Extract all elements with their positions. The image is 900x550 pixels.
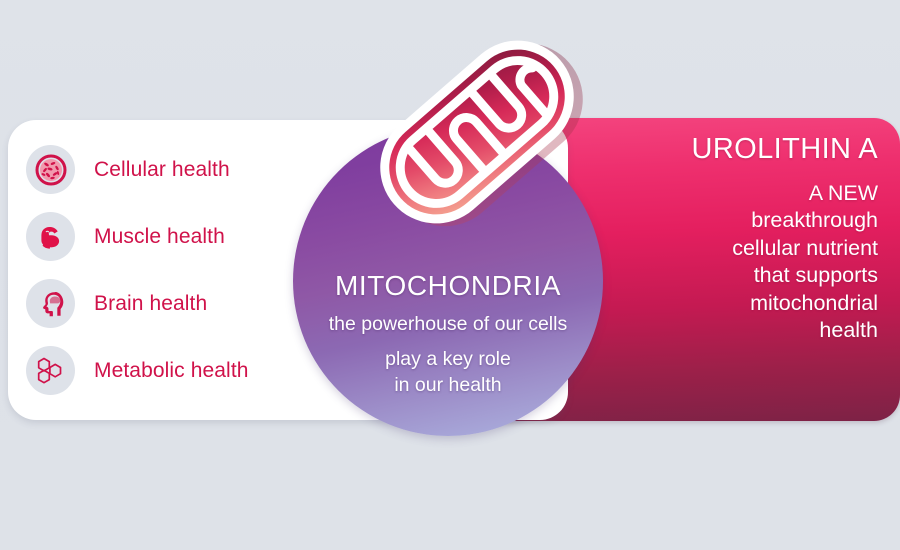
mitochondria-title: MITOCHONDRIA [293,272,603,300]
urolithin-a-line-1: A NEW [628,180,878,208]
list-item-label: Cellular health [94,158,230,182]
cell-icon [26,145,75,194]
urolithin-a-description: A NEW breakthrough cellular nutrient tha… [628,180,878,345]
mitochondria-circle: MITOCHONDRIA the powerhouse of our cells… [293,126,603,436]
mitochondria-description: the powerhouse of our cells play a key r… [293,312,603,399]
bicep-icon [26,212,75,261]
infographic-stage: UROLITHIN A A NEW breakthrough cellular … [0,0,900,550]
mitochondria-line-2: play a key role [293,347,603,373]
list-item-label: Metabolic health [94,359,249,383]
urolithin-a-line-6: health [628,317,878,345]
urolithin-a-content: UROLITHIN A A NEW breakthrough cellular … [628,134,878,345]
head-brain-icon [26,279,75,328]
list-item-label: Brain health [94,292,207,316]
list-item-label: Muscle health [94,225,225,249]
urolithin-a-title: UROLITHIN A [628,134,878,166]
mitochondria-line-1: the powerhouse of our cells [293,312,603,338]
mitochondria-line-3: in our health [293,373,603,399]
urolithin-a-line-5: mitochondrial [628,290,878,318]
urolithin-a-line-2: breakthrough [628,207,878,235]
urolithin-a-line-3: cellular nutrient [628,235,878,263]
urolithin-a-line-4: that supports [628,262,878,290]
hexagons-icon [26,346,75,395]
list-item[interactable]: Cellular health [26,136,356,203]
mitochondria-text: MITOCHONDRIA the powerhouse of our cells… [293,272,603,399]
